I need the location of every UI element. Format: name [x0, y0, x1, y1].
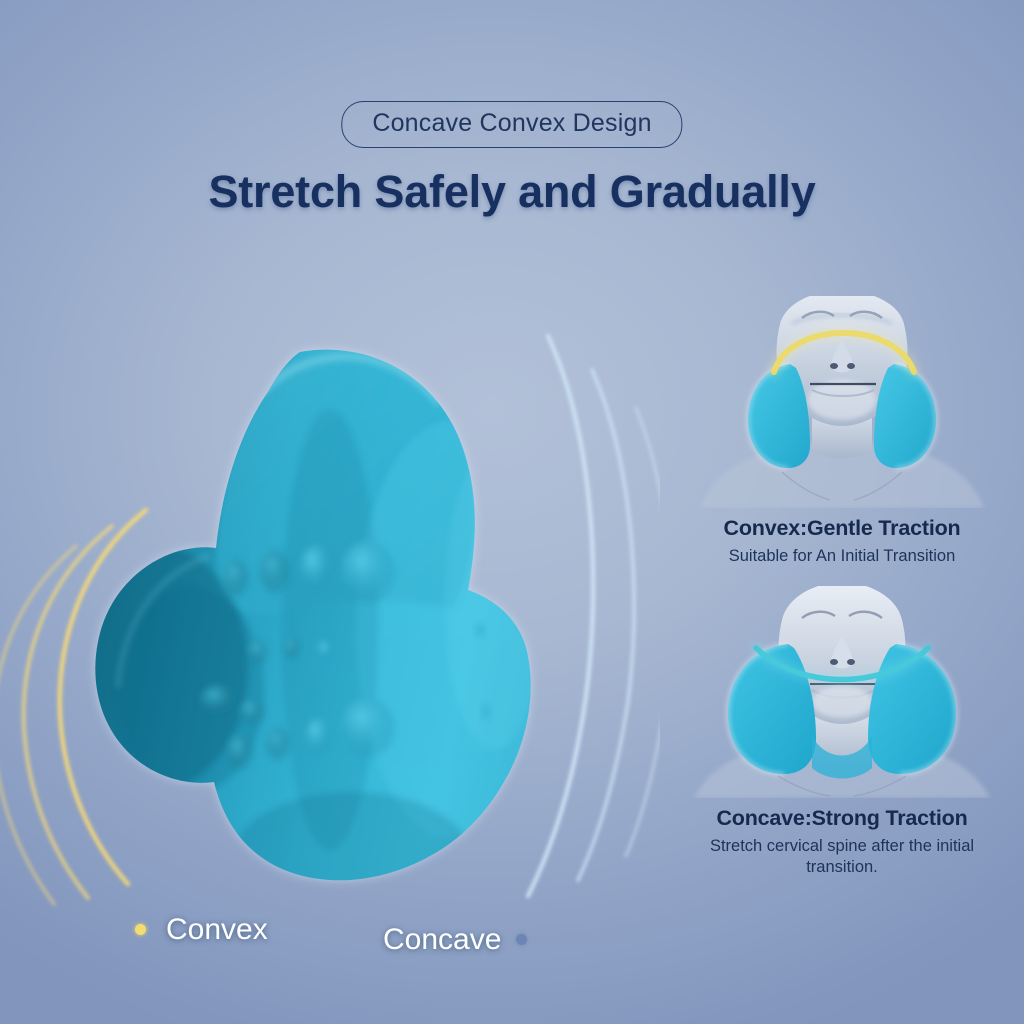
neck-pillow-body: [56, 344, 548, 928]
caption-title-convex: Convex:Gentle Traction: [660, 516, 1024, 541]
concave-marker-dot: [516, 934, 527, 945]
panel-convex: Convex:Gentle Traction Suitable for An I…: [660, 296, 1024, 567]
label-convex: Convex: [166, 913, 268, 947]
badge-concave-convex-design: Concave Convex Design: [341, 101, 682, 148]
figure-concave-traction: [660, 586, 1024, 798]
concave-wave-arcs: [528, 336, 660, 896]
page-title: Stretch Safely and Gradually: [208, 166, 815, 218]
caption-title-concave: Concave:Strong Traction: [660, 806, 1024, 831]
caption-subtitle-concave: Stretch cervical spine after the initial…: [660, 836, 1024, 878]
product-illustration: Convex Concave: [0, 300, 660, 940]
infographic-canvas: Concave Convex Design Stretch Safely and…: [0, 0, 1024, 1024]
label-concave: Concave: [383, 923, 501, 957]
figure-convex-traction: [660, 296, 1024, 508]
panel-concave: Concave:Strong Traction Stretch cervical…: [660, 586, 1024, 878]
convex-marker-dot: [135, 924, 146, 935]
caption-subtitle-convex: Suitable for An Initial Transition: [660, 546, 1024, 567]
